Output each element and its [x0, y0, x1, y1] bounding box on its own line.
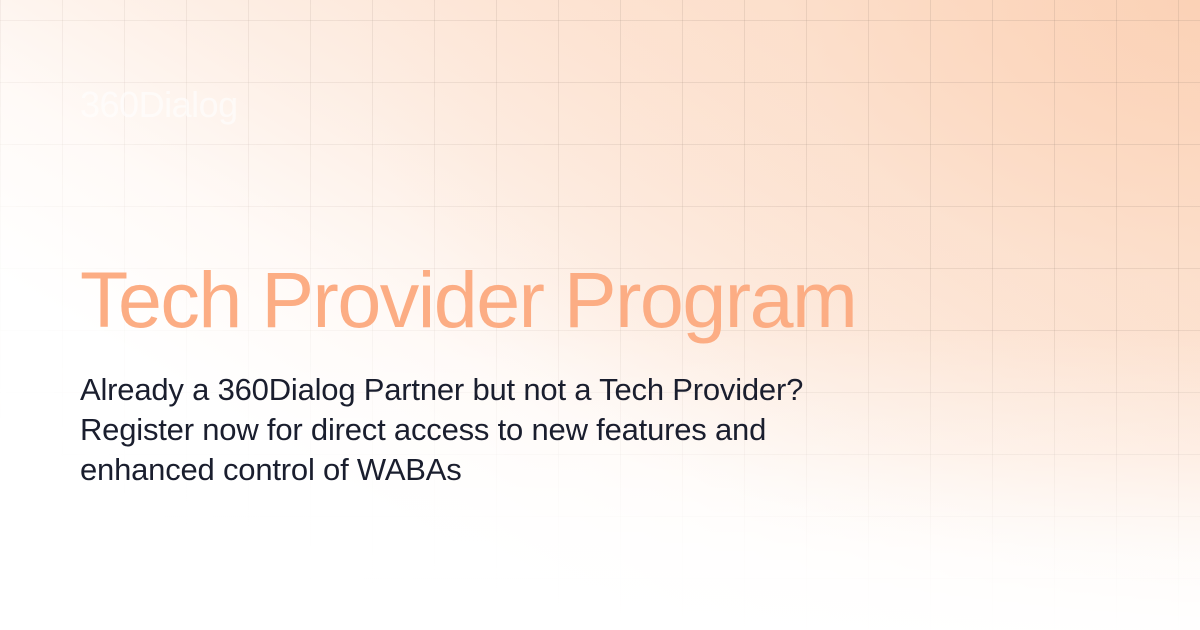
logo-wordmark-dialog: Dialog	[139, 84, 238, 126]
social-share-card: 360Dialog Tech Provider Program Already …	[0, 0, 1200, 630]
page-title: Tech Provider Program	[80, 252, 1120, 348]
logo-mark-360: 360	[80, 84, 139, 126]
hero-content: Tech Provider Program Already a 360Dialo…	[80, 252, 1120, 490]
brand-logo-watermark: 360Dialog	[80, 84, 238, 126]
page-subtitle: Already a 360Dialog Partner but not a Te…	[80, 348, 850, 490]
